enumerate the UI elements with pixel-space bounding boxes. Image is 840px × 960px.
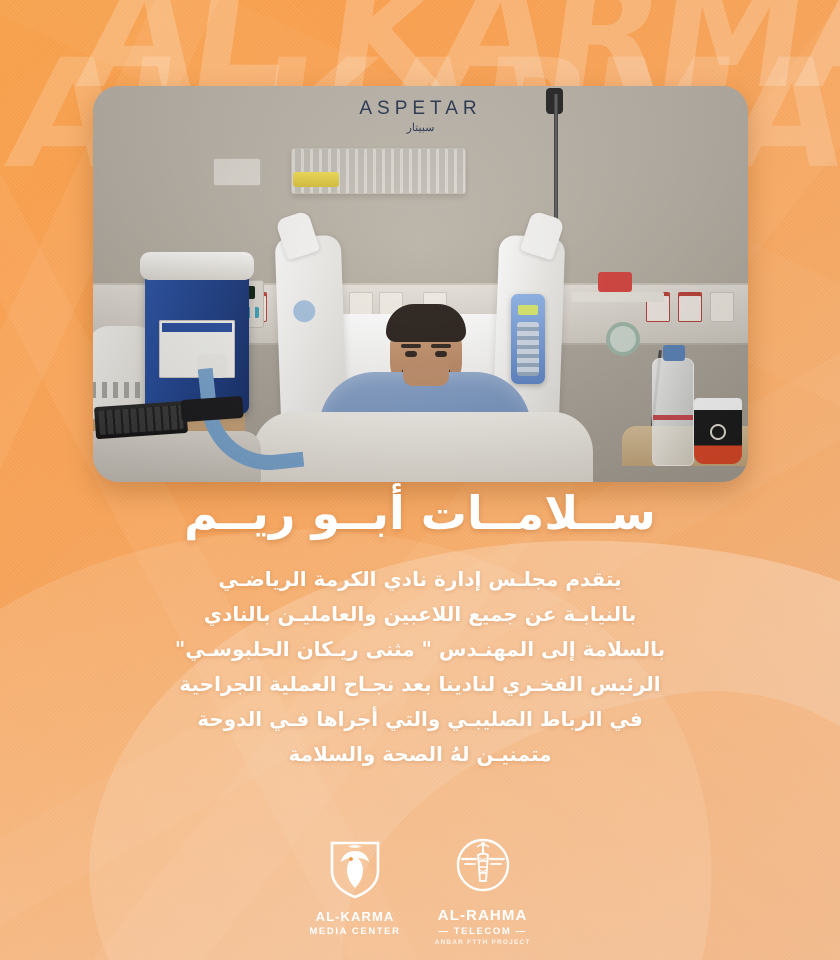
tv-remote-keypad — [94, 401, 188, 439]
red-supply-box — [598, 272, 632, 292]
bed-rail-control-dot — [293, 300, 316, 323]
announcement-body: يتقدم مجلـس إدارة نادي الكرمة الرياضـي ب… — [90, 562, 750, 772]
aspetar-sign: ASPETAR سبيتار — [93, 98, 748, 134]
wall-utility-box — [213, 158, 261, 186]
al-rahma-logo-name: AL-RAHMA — [438, 907, 528, 924]
footer-logo-row: AL-KARMA MEDIA CENTER AL-RAHMA — [0, 837, 840, 946]
body-line-2: بالنيابـة عن جميع اللاعبين والعامليـن با… — [90, 597, 750, 632]
gas-outlet-valve — [606, 322, 640, 356]
remote-keys — [98, 405, 183, 435]
nurse-call-remote — [511, 294, 545, 384]
coffee-cup-logo — [710, 424, 726, 440]
telecom-tower-circle-icon — [454, 837, 512, 902]
patient-photo-card: ASPETAR سبيتار 1/500 — [93, 86, 748, 482]
body-line-5: في الرباط الصليبـي والتي أجراها فـي الدو… — [90, 702, 750, 737]
cooler-label-header — [162, 323, 232, 332]
body-line-4: الرئيس الفخـري لنادينا بعد نجـاح العملية… — [90, 667, 750, 702]
equipment-shelf — [572, 292, 664, 302]
patient-hair — [386, 304, 466, 342]
overhead-wire-rack — [291, 148, 466, 194]
yellow-supply-pack — [293, 172, 339, 187]
aspetar-sign-english: ASPETAR — [93, 98, 748, 120]
remote-indicator — [518, 305, 538, 315]
patient-neck — [403, 358, 449, 386]
wall-socket-red — [678, 292, 702, 322]
water-bottle-cap — [663, 345, 685, 361]
aspetar-sign-arabic: سبيتار — [93, 121, 748, 134]
patient-eye-left — [405, 351, 417, 357]
al-rahma-logo-subtitle: — TELECOM — — [438, 926, 526, 937]
bed-sheet — [253, 412, 593, 482]
al-rahma-telecom-logo: AL-RAHMA — TELECOM — ANBAR FTTH PROJECT — [435, 837, 531, 946]
water-bottle-label — [653, 415, 693, 420]
eagle-shield-icon — [328, 837, 382, 904]
water-jug-pattern — [93, 382, 153, 398]
hospital-room-photo: ASPETAR سبيتار 1/500 — [93, 86, 748, 482]
body-line-6: متمنيـن لهُ الصحة والسلامة — [90, 737, 750, 772]
al-karma-logo-name: AL-KARMA — [316, 909, 395, 924]
wall-socket — [710, 292, 734, 322]
body-line-1: يتقدم مجلـس إدارة نادي الكرمة الرياضـي — [90, 562, 750, 597]
patient-eye-right — [435, 351, 447, 357]
patient-eyebrow-left — [401, 344, 421, 348]
body-line-3: بالسلامة إلى المهنـدس " مثنى ريـكان الحل… — [90, 632, 750, 667]
paper-coffee-cup — [694, 398, 742, 464]
page-title: ســلامــات أبــو ريــم — [0, 486, 840, 540]
mobile-phone — [180, 396, 243, 422]
cooler-lid — [140, 252, 254, 280]
remote-buttons — [517, 322, 539, 376]
water-bottle — [652, 358, 694, 466]
al-karma-media-center-logo: AL-KARMA MEDIA CENTER — [309, 837, 400, 937]
al-karma-logo-subtitle: MEDIA CENTER — [309, 926, 400, 937]
poster-canvas: AL KARMA AL KARMA ASPETAR سبيتار — [0, 0, 840, 960]
patient-eyebrow-right — [431, 344, 451, 348]
al-rahma-logo-tagline: ANBAR FTTH PROJECT — [435, 939, 531, 946]
